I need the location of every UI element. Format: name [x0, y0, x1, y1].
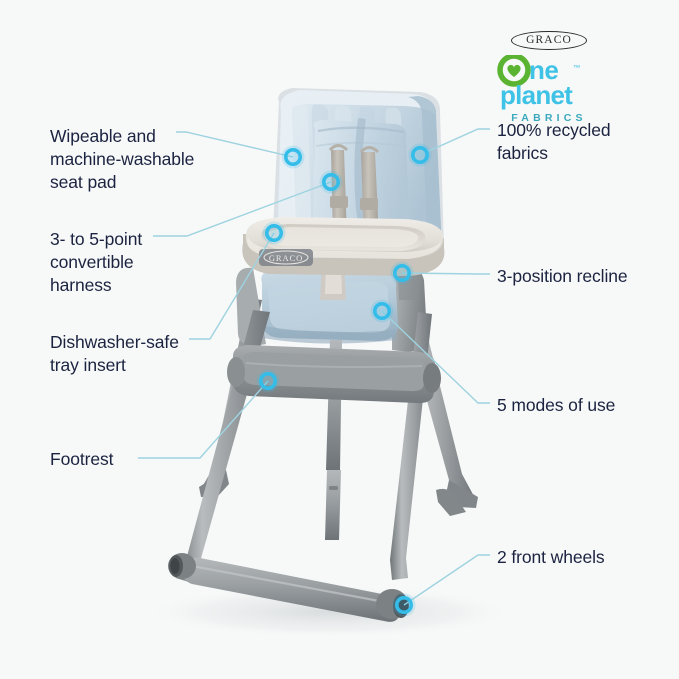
callout-label-dishwasher-safe-tray: Dishwasher-safe tray insert	[50, 331, 179, 377]
tray: GRACO	[242, 217, 444, 276]
graco-wordmark: GRACO	[511, 31, 587, 50]
wheel-front-left	[168, 553, 196, 579]
tray-graco-badge: GRACO	[259, 249, 313, 266]
callout-label-wipeable-seat-pad: Wipeable and machine-washable seat pad	[50, 125, 194, 194]
callout-label-three-position-recline: 3-position recline	[497, 265, 628, 288]
height-adjust-notch	[329, 486, 338, 490]
footrest	[227, 345, 441, 403]
brand-logo-block: GRACO ne ™ planet FABRICS	[497, 31, 601, 124]
fabrics-word: FABRICS	[497, 112, 601, 124]
one-planet-logo: ne ™ planet	[497, 55, 601, 111]
trademark-symbol: ™	[573, 63, 581, 72]
callout-label-footrest: Footrest	[50, 448, 113, 471]
callout-label-five-modes-of-use: 5 modes of use	[497, 394, 615, 417]
infographic-canvas: GRACO	[0, 0, 679, 679]
callout-label-recycled-fabrics: 100% recycled fabrics	[497, 119, 610, 165]
svg-text:planet: planet	[500, 80, 573, 110]
callout-label-two-front-wheels: 2 front wheels	[497, 546, 605, 569]
svg-text:GRACO: GRACO	[269, 253, 303, 263]
callout-label-convertible-harness: 3- to 5-point convertible harness	[50, 228, 142, 297]
